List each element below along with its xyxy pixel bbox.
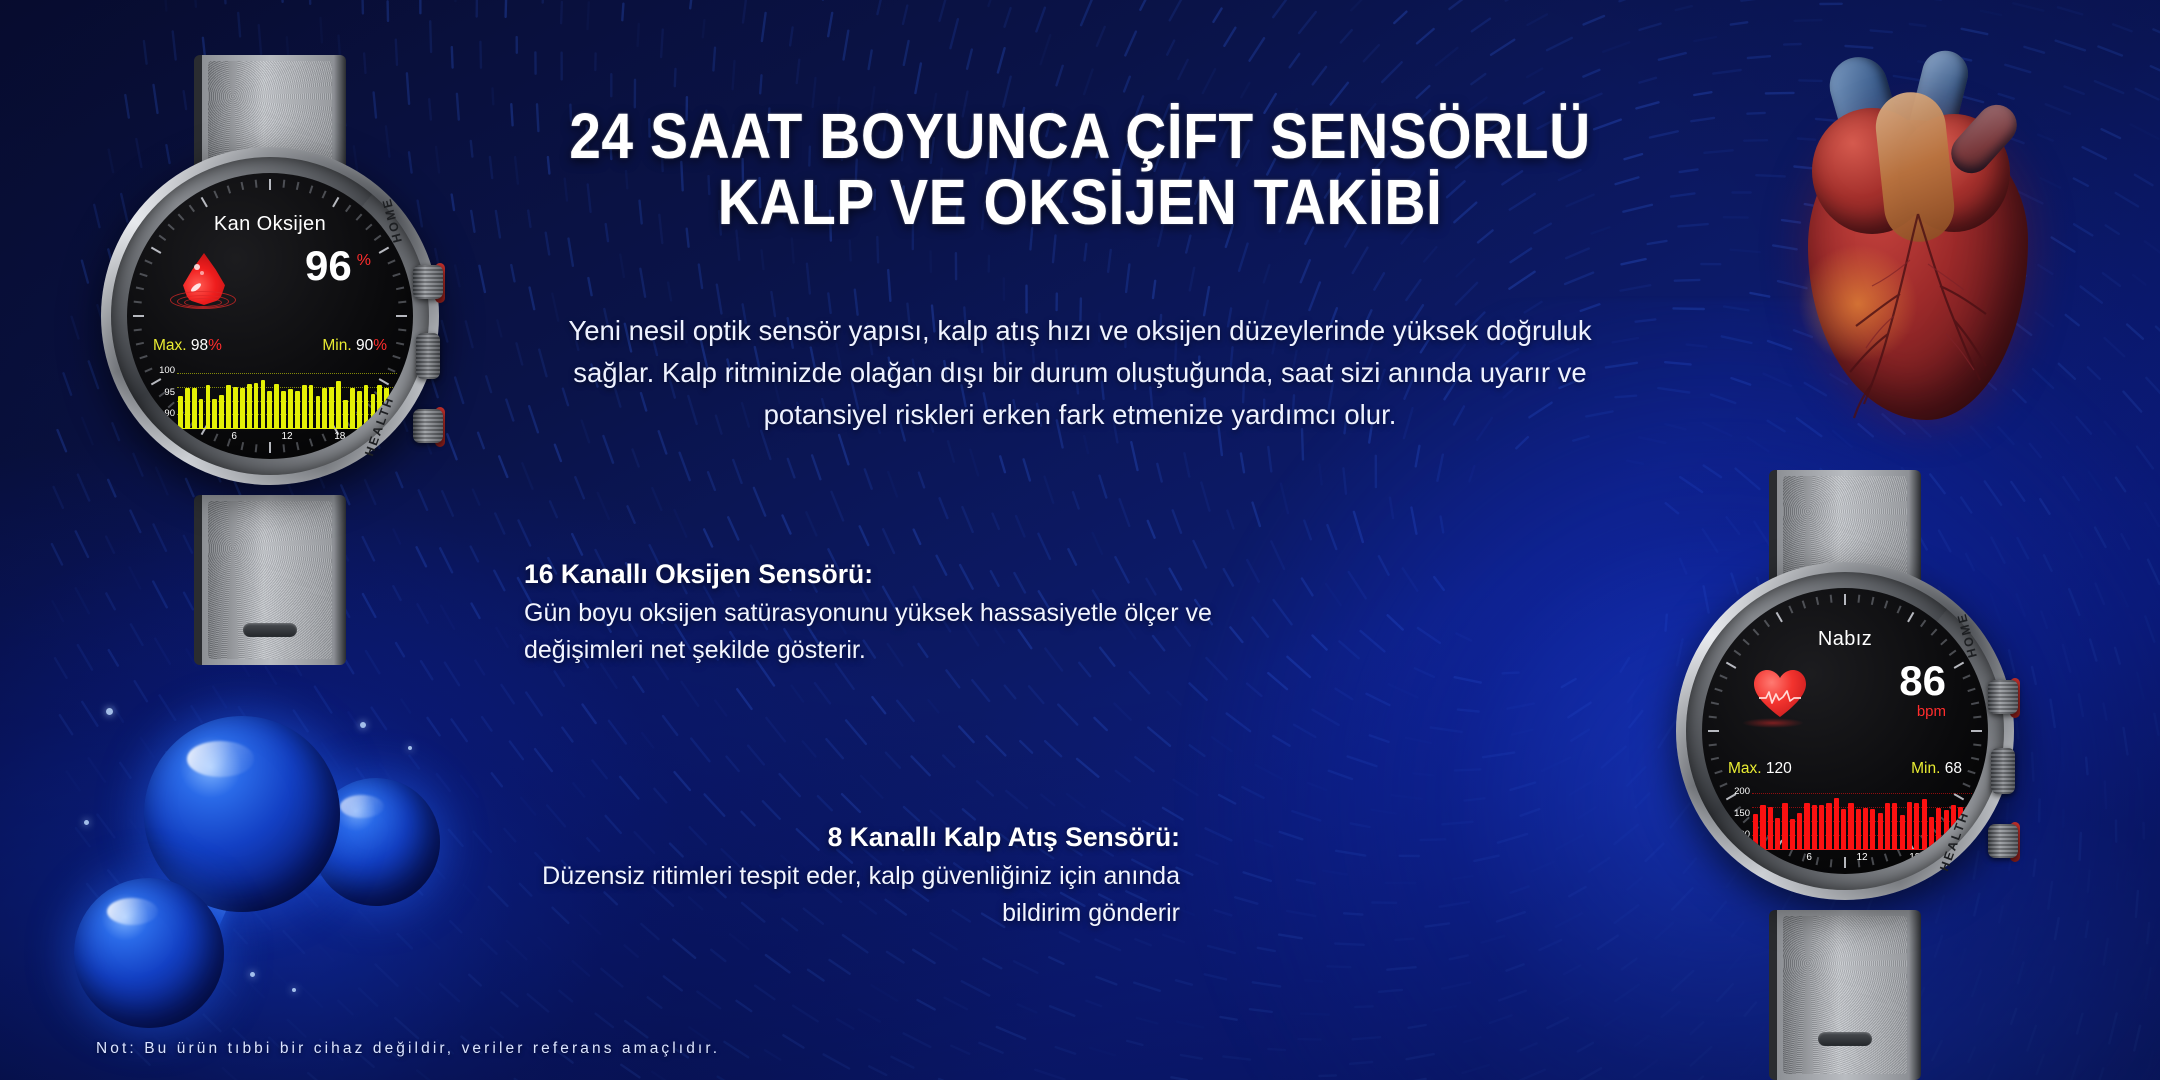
chart-baseline [1752,849,1972,850]
chart-gridline [1752,807,1972,808]
chart-bar [233,387,238,429]
chart-bar [1768,807,1773,850]
heart-shadow [1742,718,1804,728]
chart-y-tick: 100 [1724,829,1750,840]
chart-gridline [1752,835,1972,836]
chart-y-axis: 20015010050 [1724,786,1750,862]
chart-y-tick: 95 [149,387,175,398]
chart-bar [226,385,231,429]
chart-bar [371,394,376,429]
min-value: 90 [356,337,373,354]
heartrate-unit: bpm [1899,704,1946,719]
heartrate-max: Max. 120 [1728,760,1792,778]
heartrate-minmax-row: Max. 120 Min. 68 [1728,760,1962,778]
chart-x-tick: 12 [1856,852,1867,863]
ripple-ring [184,298,222,307]
chart-bar [1966,811,1971,850]
min-value: 68 [1945,760,1962,777]
chart-bar [254,383,259,429]
chart-bar [1892,803,1897,850]
chart-bar [206,385,211,429]
chart-bar [1914,803,1919,850]
chart-bars [1752,790,1972,850]
heart-pulse-icon [1746,668,1814,740]
chart-x-tick: 6 [1806,852,1812,863]
chart-bar [1907,802,1912,850]
chart-x-tick: 18 [334,431,345,442]
max-label: Max. [153,337,187,354]
molecule-spark [84,820,89,825]
watch-screen[interactable]: Nabız 86 bpm [1702,588,1988,874]
oxygen-value-group: 96% [305,245,371,287]
disclaimer-note: Not: Bu ürün tıbbi bir cihaz değildir, v… [96,1040,720,1058]
chart-bar [1841,809,1846,850]
chart-x-tick: 24 [1962,852,1973,863]
chart-x-tick: 18 [1909,852,1920,863]
chart-bar [288,389,293,429]
oxygen-value: 96 [305,242,352,289]
chart-x-tick: 24 [387,431,398,442]
chart-baseline [177,428,397,429]
watch-side-button[interactable] [1991,748,2015,794]
max-unit: % [208,337,222,354]
chart-gridline [177,373,397,374]
blood-drop-icon [171,253,239,325]
poster-stage: 24 SAAT BOYUNCA ÇİFT SENSÖRLÜ KALP VE OK… [0,0,2160,1080]
chart-x-tick: 0 [179,431,185,442]
oxygen-molecule-graphic [60,700,480,1030]
chart-y-tick: 100 [149,365,175,376]
chart-bar [1804,803,1809,850]
molecule-spark [250,972,255,977]
chart-bar [329,387,334,429]
chart-bar [1826,803,1831,850]
watch-crown-button[interactable] [1988,680,2018,714]
chart-bar [1753,814,1758,850]
chart-bar [1878,813,1883,850]
chart-bar [377,385,382,429]
min-unit: % [373,337,387,354]
chart-bar [267,391,272,429]
chart-bar [1951,805,1956,850]
oxygen-minmax-row: Max. 98% Min. 90% [153,337,387,355]
chart-bar [1834,798,1839,850]
molecule-spark [408,746,412,750]
heart-shape [1754,670,1806,718]
chart-bar [322,388,327,429]
max-value: 98 [191,337,208,354]
chart-bar [1819,805,1824,850]
heartrate-bar-chart: 20015010050 06121824 [1724,790,1972,866]
heartrate-value-group: 86 bpm [1899,660,1946,719]
chart-gridline [177,414,397,415]
chart-bar [1863,808,1868,850]
chart-bar [1885,803,1890,850]
feature-title: 16 Kanallı Oksijen Sensörü: [524,555,1304,595]
chart-bar [281,391,286,429]
watch-lower-button[interactable] [1988,824,2018,858]
smartwatch-heartrate: HOME HEALTH Nabız [1655,470,2035,1080]
chart-gridline [1752,793,1972,794]
chart-bar [336,381,341,429]
chart-x-tick: 0 [1754,852,1760,863]
chart-gridline [1752,821,1972,822]
feature-block-heart-sensor: 8 Kanallı Kalp Atış Sensörü: Düzensiz ri… [540,818,1180,932]
heartrate-min: Min. 68 [1911,760,1962,778]
lead-paragraph: Yeni nesil optik sensör yapısı, kalp atı… [540,310,1620,435]
chart-y-axis: 100959085 [149,365,175,441]
drop-highlight [200,271,204,275]
chart-bar [185,388,190,429]
oxygen-bar-chart: 100959085 06121824 [149,369,397,445]
chart-bar [1848,803,1853,850]
chart-bar [1797,813,1802,850]
chart-bar [192,388,197,429]
smartwatch-oxygen: HOME HEALTH Kan Oksijen [80,55,460,665]
max-value: 120 [1766,760,1792,777]
chart-bar [1936,808,1941,850]
chart-bar [309,385,314,429]
watchface-title: Nabız [1702,628,1988,651]
chart-y-tick: 90 [149,408,175,419]
chart-x-axis: 06121824 [177,431,397,445]
chart-plot-area [177,369,397,429]
molecule-spark [106,708,113,715]
feature-body: Düzensiz ritimleri tespit eder, kalp güv… [540,858,1180,932]
min-label: Min. [322,337,351,354]
strap-buckle [243,623,297,637]
chart-x-tick: 6 [231,431,237,442]
watch-case: HOME HEALTH Nabız [1676,562,2014,900]
watch-screen[interactable]: Kan Oksijen 96% [127,173,413,459]
oxygen-max: Max. 98% [153,337,222,355]
chart-y-tick: 50 [1724,851,1750,862]
chart-bar [247,384,252,429]
oxygen-watchface: Kan Oksijen 96% [127,173,413,459]
molecule-spark [292,988,296,992]
watch-case: HOME HEALTH Kan Oksijen [101,147,439,485]
chart-y-tick: 85 [149,430,175,441]
chart-bar [357,391,362,429]
oxygen-min: Min. 90% [322,337,387,355]
headline-line-1: 24 SAAT BOYUNCA ÇİFT SENSÖRLÜ [569,101,1591,173]
chart-bar [240,388,245,429]
molecule-spark [360,722,366,728]
strap-buckle [1818,1032,1872,1046]
feature-body: Gün boyu oksijen satürasyonunu yüksek ha… [524,595,1304,669]
chart-bar [1760,805,1765,850]
chart-bar [1782,803,1787,850]
watch-side-button[interactable] [416,333,440,379]
chart-gridline [177,401,397,402]
chart-bar [1870,809,1875,850]
feature-title: 8 Kanallı Kalp Atış Sensörü: [540,818,1180,858]
chart-bar [384,388,389,429]
chart-bar [1944,810,1949,850]
chart-bar [350,388,355,429]
watchface-title: Kan Oksijen [127,213,413,236]
chart-bar [1812,805,1817,850]
chart-bar [302,385,307,429]
watch-strap-bottom [194,495,346,665]
chart-plot-area [1752,790,1972,850]
chart-y-tick: 150 [1724,808,1750,819]
heartrate-value: 86 [1899,657,1946,704]
watch-strap-bottom [1769,910,1921,1080]
chart-bar [1856,809,1861,850]
chart-bar [364,385,369,429]
chart-x-tick: 12 [281,431,292,442]
watch-crown-button[interactable] [413,265,443,299]
chart-bars [177,369,397,429]
watch-lower-button[interactable] [413,409,443,443]
chart-y-tick: 200 [1724,786,1750,797]
molecule-atom [74,878,224,1028]
chart-bar [1958,807,1963,850]
feature-block-oxygen-sensor: 16 Kanallı Oksijen Sensörü: Gün boyu oks… [524,555,1304,669]
chart-x-axis: 06121824 [1752,852,1972,866]
chart-bar [295,391,300,429]
chart-gridline [177,387,397,388]
min-label: Min. [1911,760,1940,777]
chart-bar [1775,818,1780,850]
chart-bar [274,384,279,429]
oxygen-unit: % [357,252,371,269]
max-label: Max. [1728,760,1762,777]
heartrate-watchface: Nabız 86 bpm [1702,588,1988,874]
ecg-line [1759,689,1801,705]
